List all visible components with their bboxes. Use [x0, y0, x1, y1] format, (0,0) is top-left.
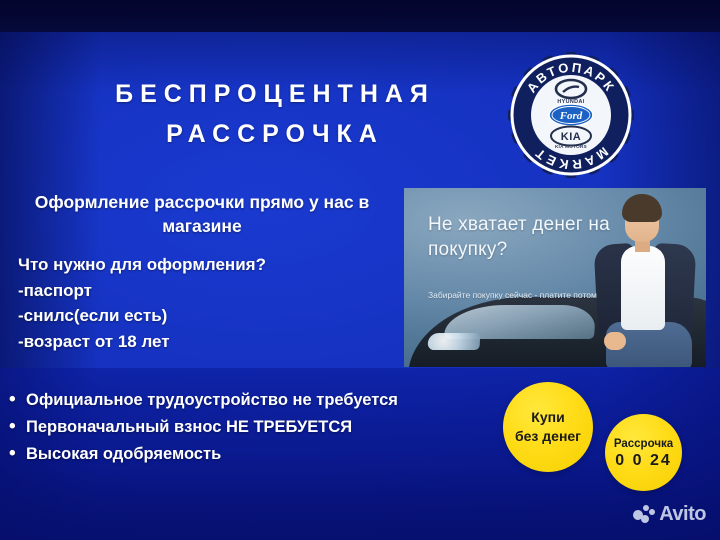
avito-wordmark: Avito — [659, 503, 706, 526]
badge-installment: Рассрочка 0 0 24 — [605, 414, 682, 491]
list-item: Высокая одобряемость — [8, 441, 518, 468]
avtopark-market-gear-logo: АВТОПАРК MARKET HYUNDAI Ford KIA KIA — [508, 52, 634, 178]
benefits-list: Официальное трудоустройство не требуется… — [8, 387, 518, 468]
badge-buy-line1: Купи — [531, 408, 564, 427]
photo-headline: Не хватает денег на покупку? — [428, 212, 628, 262]
requirement-item-age: -возраст от 18 лет — [18, 329, 404, 355]
badge-installment-numbers: 0 0 24 — [615, 453, 671, 469]
promo-photo-card: Не хватает денег на покупку? Забирайте п… — [404, 188, 706, 367]
badge-buy-without-money: Купи без денег — [503, 382, 593, 472]
requirements-block: Что нужно для оформления? -паспорт -снил… — [18, 252, 404, 354]
list-item: Первоначальный взнос НЕ ТРЕБУЕТСЯ — [8, 414, 518, 441]
requirements-question: Что нужно для оформления? — [18, 252, 404, 278]
badge-buy-line2: без денег — [515, 427, 581, 446]
promo-poster: БЕСПРОЦЕНТНАЯ РАССРОЧКА — [0, 0, 720, 540]
badge-installment-label: Рассрочка — [614, 436, 673, 452]
page-title-line1: БЕСПРОЦЕНТНАЯ — [115, 80, 435, 108]
top-dark-band — [0, 0, 720, 32]
hand — [604, 332, 626, 350]
lead-line1: Оформление рассрочки прямо у нас — [35, 192, 354, 212]
photo-subtext: Забирайте покупку сейчас - платите потом — [428, 289, 603, 302]
hair — [622, 194, 662, 222]
lead-text: Оформление рассрочки прямо у нас в магаз… — [4, 190, 400, 238]
page-title-line2: РАССРОЧКА — [40, 114, 510, 154]
list-item: Официальное трудоустройство не требуется — [8, 387, 518, 414]
page-title: БЕСПРОЦЕНТНАЯ РАССРОЧКА — [40, 74, 510, 154]
svg-text:KIA: KIA — [561, 131, 581, 143]
requirement-item-passport: -паспорт — [18, 278, 404, 304]
svg-text:Ford: Ford — [559, 110, 583, 122]
requirement-item-snils: -снилс(если есть) — [18, 303, 404, 329]
ford-logo: Ford — [549, 104, 593, 126]
avito-watermark: Avito — [633, 503, 706, 526]
car-headlight — [427, 333, 480, 350]
avito-dots-icon — [633, 505, 655, 524]
svg-text:KIA MOTORS: KIA MOTORS — [555, 144, 587, 149]
